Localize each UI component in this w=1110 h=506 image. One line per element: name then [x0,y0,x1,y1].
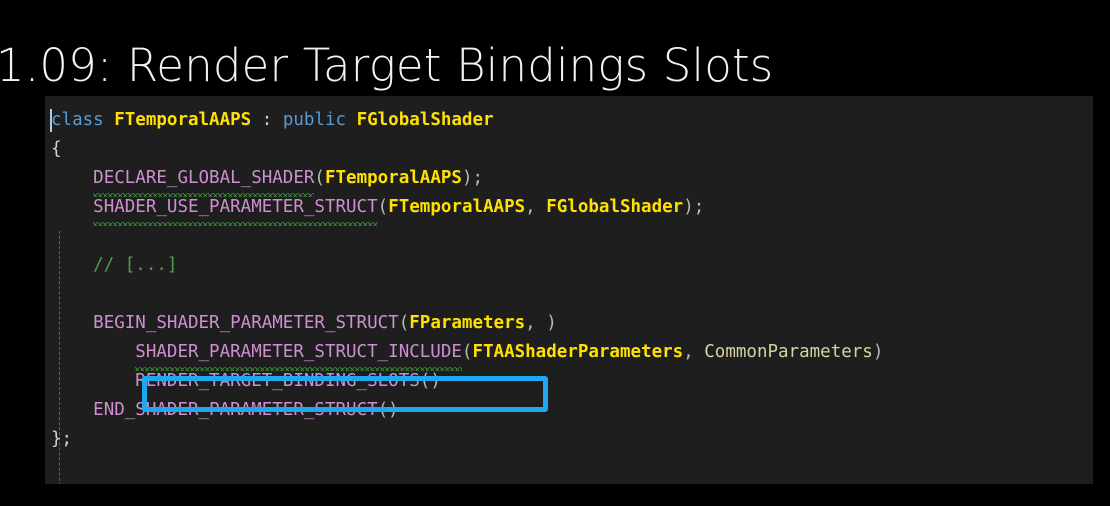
code-line: { [45,135,883,164]
code-line: END_SHADER_PARAMETER_STRUCT() [45,396,883,425]
code-token: ); [462,168,483,188]
code-block: class FTemporalAAPS : public FGlobalShad… [45,96,1093,484]
code-token: // [...] [93,255,177,275]
code-line: class FTemporalAAPS : public FGlobalShad… [45,106,883,135]
code-token: () [420,371,441,391]
code-listing[interactable]: class FTemporalAAPS : public FGlobalShad… [45,96,883,454]
error-squiggle: DECLARE_GLOBAL_SHADER [93,164,314,193]
code-token: , [683,342,704,362]
code-line [45,280,883,309]
code-line: BEGIN_SHADER_PARAMETER_STRUCT(FParameter… [45,309,883,338]
code-token: DECLARE_GLOBAL_SHADER [93,168,314,188]
code-token: { [51,139,62,159]
code-token: ); [683,197,704,217]
code-token: , ) [525,313,557,333]
code-token: FParameters [409,313,525,333]
error-squiggle: SHADER_PARAMETER_STRUCT_INCLUDE [135,338,462,367]
code-token: , [525,197,546,217]
code-token [104,110,115,130]
error-squiggle: SHADER_USE_PARAMETER_STRUCT [93,193,377,222]
code-token: public [283,110,346,130]
code-token: ( [399,313,410,333]
code-token: END_SHADER_PARAMETER_STRUCT [93,400,377,420]
page-title: 1.09: Render Target Bindings Slots [0,32,1106,100]
code-token: CommonParameters [704,342,873,362]
code-token: ) [873,342,884,362]
code-token: RENDER_TARGET_BINDING_SLOTS [135,371,419,391]
code-token: FTemporalAAPS [388,197,525,217]
code-token: FTemporalAAPS [114,110,251,130]
code-token: ( [314,168,325,188]
code-token: : [251,110,283,130]
code-token: FGlobalShader [357,110,494,130]
slide: 1.09: Render Target Bindings Slots class… [0,0,1110,506]
code-token: FGlobalShader [546,197,683,217]
code-line: SHADER_PARAMETER_STRUCT_INCLUDE(FTAAShad… [45,338,883,367]
code-line: }; [45,425,883,454]
code-token: class [51,110,104,130]
code-token: ( [378,197,389,217]
code-token: SHADER_PARAMETER_STRUCT_INCLUDE [135,342,462,362]
code-token: () [378,400,399,420]
code-line: DECLARE_GLOBAL_SHADER(FTemporalAAPS); [45,164,883,193]
code-line [45,222,883,251]
code-token: SHADER_USE_PARAMETER_STRUCT [93,197,377,217]
code-token: }; [51,429,72,449]
code-token: FTemporalAAPS [325,168,462,188]
code-line: // [...] [45,251,883,280]
code-token [346,110,357,130]
code-token: BEGIN_SHADER_PARAMETER_STRUCT [93,313,399,333]
code-token: FTAAShaderParameters [472,342,683,362]
code-line: RENDER_TARGET_BINDING_SLOTS() [45,367,883,396]
code-line: SHADER_USE_PARAMETER_STRUCT(FTemporalAAP… [45,193,883,222]
code-token: ( [462,342,473,362]
